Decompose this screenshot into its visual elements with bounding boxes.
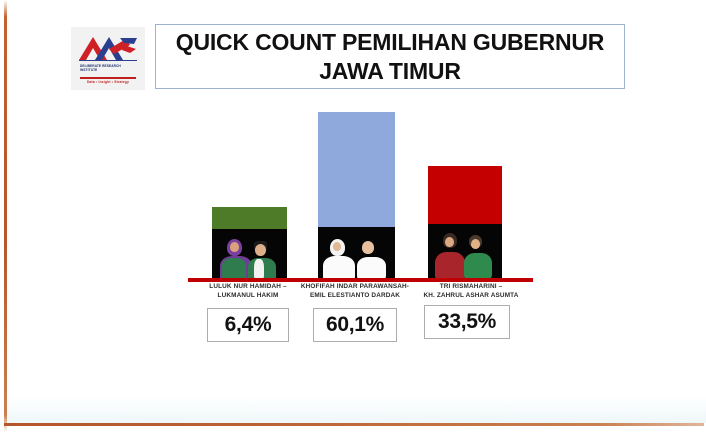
candidate-label-risma-line1: TRI RISMAHARINI –	[408, 283, 534, 292]
page-title-line-2: JAWA TIMUR	[319, 57, 461, 86]
bar-group-risma	[428, 166, 502, 280]
candidate-photo-luluk	[212, 229, 287, 280]
slide-canvas: DELIBERATE RESEARCH INSTITUTE Data • Ins…	[0, 0, 706, 432]
candidate-label-luluk-line2: LUKMANUL HAKIM	[192, 292, 304, 301]
slide-bottom-tint	[7, 397, 706, 423]
result-value-khofifah: 60,1%	[326, 313, 384, 337]
bar-group-khofifah	[318, 112, 395, 280]
page-title-line-1: QUICK COUNT PEMILIHAN GUBERNUR	[176, 28, 604, 57]
candidate-label-luluk: LULUK NUR HAMIDAH – LUKMANUL HAKIM	[192, 283, 304, 300]
slide-left-accent-border	[4, 0, 7, 432]
candidate-pair-illustration-3	[428, 224, 502, 280]
quick-count-bar-chart	[188, 110, 533, 280]
result-value-box-risma: 33,5%	[424, 305, 510, 339]
candidate-pair-illustration-2	[318, 227, 395, 280]
candidate-photo-risma	[428, 224, 502, 280]
bar-fill-risma	[428, 166, 502, 224]
result-value-box-luluk: 6,4%	[207, 308, 289, 342]
candidate-label-risma-line2: KH. ZAHRUL ASHAR ASUMTA	[408, 292, 534, 301]
logo-divider	[80, 77, 136, 79]
candidate-pair-illustration-1	[212, 229, 287, 280]
candidate-label-khofifah-line1: KHOFIFAH INDAR PARAWANSAH-	[294, 283, 416, 292]
result-value-box-khofifah: 60,1%	[313, 308, 397, 342]
slide-title-box: QUICK COUNT PEMILIHAN GUBERNUR JAWA TIMU…	[155, 24, 625, 89]
result-value-luluk: 6,4%	[225, 313, 272, 337]
chart-baseline	[188, 278, 533, 282]
bar-fill-khofifah	[318, 112, 395, 227]
candidate-photo-khofifah	[318, 227, 395, 280]
organization-logo: DELIBERATE RESEARCH INSTITUTE Data • Ins…	[71, 27, 145, 90]
candidate-label-risma: TRI RISMAHARINI – KH. ZAHRUL ASHAR ASUMT…	[408, 283, 534, 300]
candidate-label-khofifah-line2: EMIL ELESTIANTO DARDAK	[294, 292, 416, 301]
candidate-label-khofifah: KHOFIFAH INDAR PARAWANSAH- EMIL ELESTIAN…	[294, 283, 416, 300]
candidate-label-luluk-line1: LULUK NUR HAMIDAH –	[192, 283, 304, 292]
result-value-risma: 33,5%	[438, 310, 496, 334]
logo-arrow-icon	[78, 34, 138, 64]
logo-institute-text: DELIBERATE RESEARCH INSTITUTE	[80, 65, 136, 72]
bar-fill-luluk	[212, 207, 287, 229]
logo-tagline-text: Data • Insight • Strategy	[80, 80, 136, 84]
slide-bottom-accent-border	[4, 423, 704, 426]
bar-group-luluk	[212, 207, 287, 280]
